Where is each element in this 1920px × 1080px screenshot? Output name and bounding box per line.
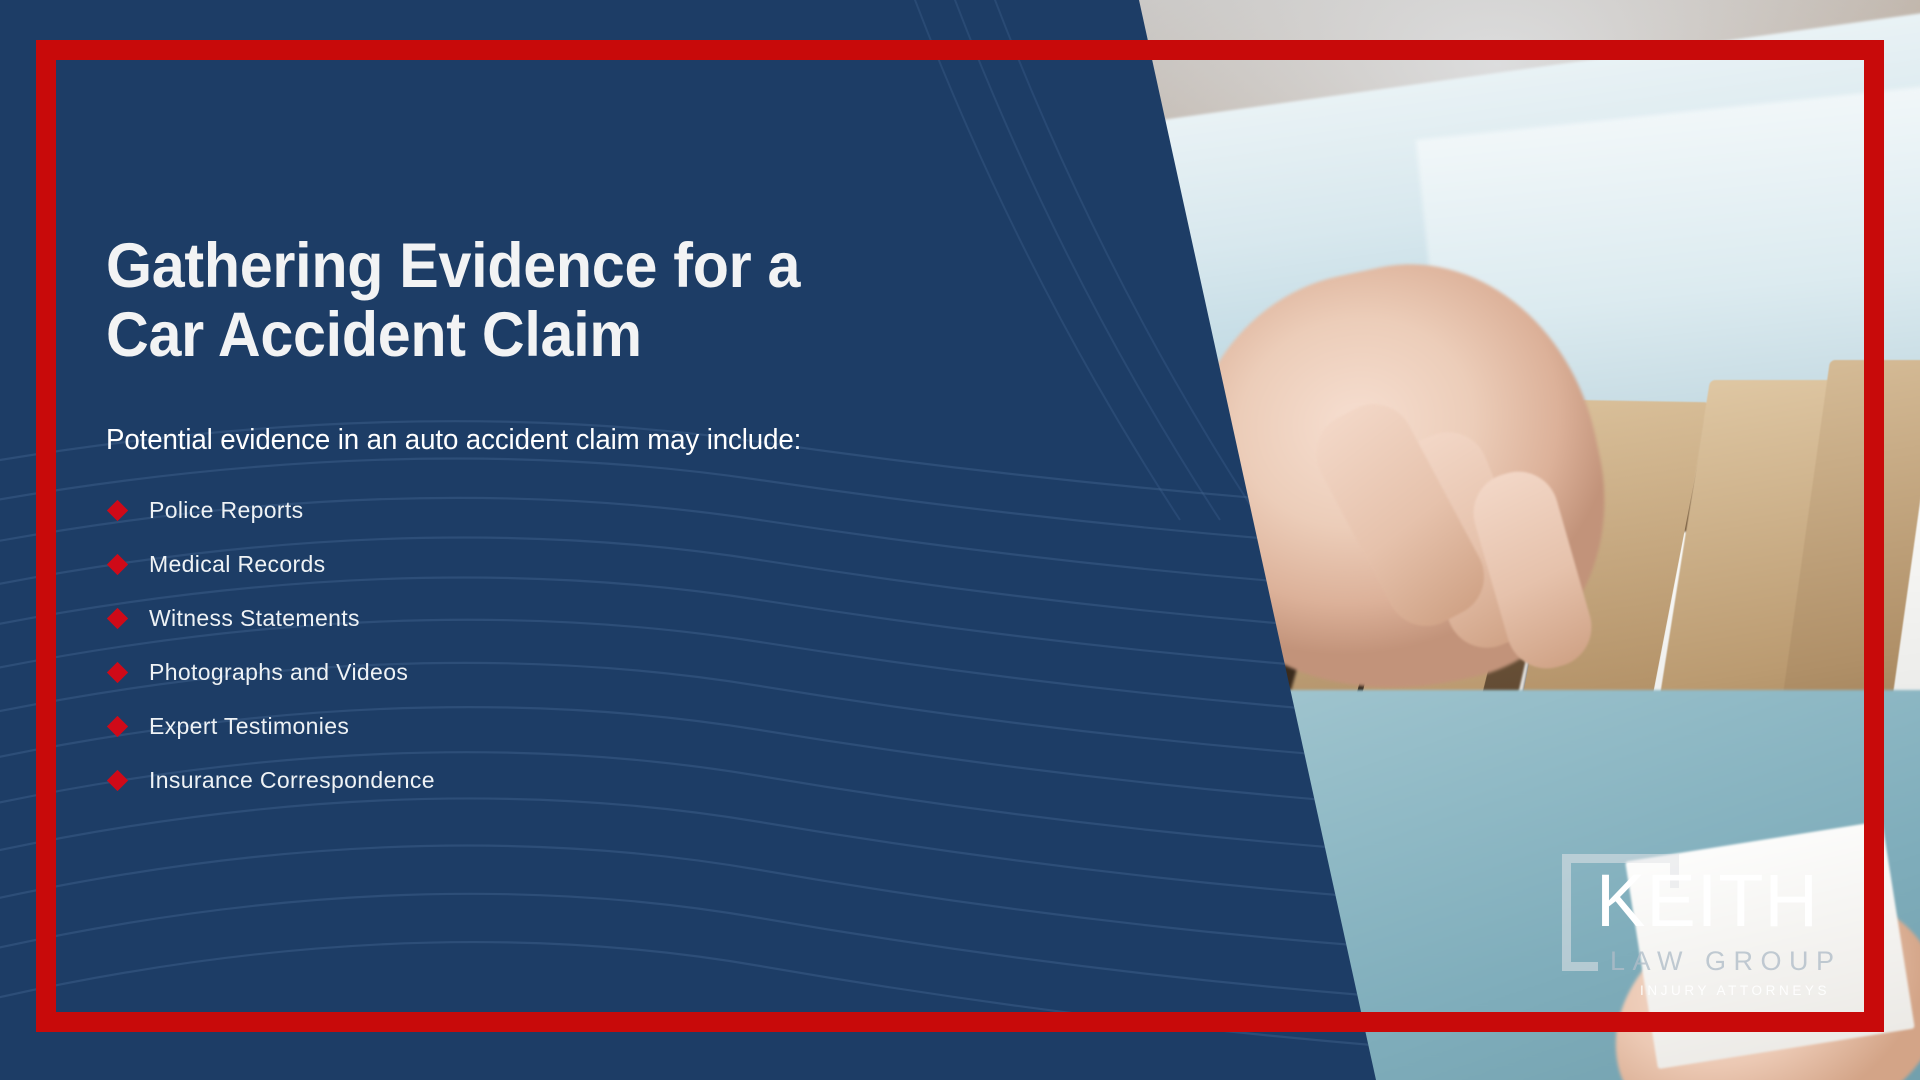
banner-content: Gathering Evidence for a Car Accident Cl… bbox=[106, 232, 1126, 807]
list-item-label: Medical Records bbox=[149, 551, 326, 578]
list-item-label: Photographs and Videos bbox=[149, 659, 408, 686]
evidence-list: Police Reports Medical Records Witness S… bbox=[106, 483, 1126, 807]
diamond-bullet-icon bbox=[107, 500, 128, 521]
diamond-bullet-icon bbox=[107, 554, 128, 575]
list-item: Medical Records bbox=[106, 537, 1126, 591]
page-title: Gathering Evidence for a Car Accident Cl… bbox=[106, 232, 1065, 369]
logo-subtitle: LAW GROUP bbox=[1610, 946, 1842, 977]
banner-canvas: Gathering Evidence for a Car Accident Cl… bbox=[0, 0, 1920, 1080]
list-item-label: Police Reports bbox=[149, 497, 303, 524]
subheading: Potential evidence in an auto accident c… bbox=[106, 424, 1095, 457]
list-item: Insurance Correspondence bbox=[106, 753, 1126, 807]
logo-wordmark: KEITH bbox=[1596, 864, 1819, 938]
diamond-bullet-icon bbox=[107, 662, 128, 683]
list-item: Expert Testimonies bbox=[106, 699, 1126, 753]
diamond-bullet-icon bbox=[107, 716, 128, 737]
diamond-bullet-icon bbox=[107, 608, 128, 629]
keith-law-group-logo[interactable]: KEITH LAW GROUP INJURY ATTORNEYS bbox=[1562, 852, 1842, 1000]
list-item-label: Witness Statements bbox=[149, 605, 360, 632]
list-item: Police Reports bbox=[106, 483, 1126, 537]
list-item-label: Insurance Correspondence bbox=[149, 767, 435, 794]
list-item: Witness Statements bbox=[106, 591, 1126, 645]
logo-tagline: INJURY ATTORNEYS bbox=[1640, 983, 1830, 998]
list-item-label: Expert Testimonies bbox=[149, 713, 349, 740]
list-item: Photographs and Videos bbox=[106, 645, 1126, 699]
diamond-bullet-icon bbox=[107, 770, 128, 791]
